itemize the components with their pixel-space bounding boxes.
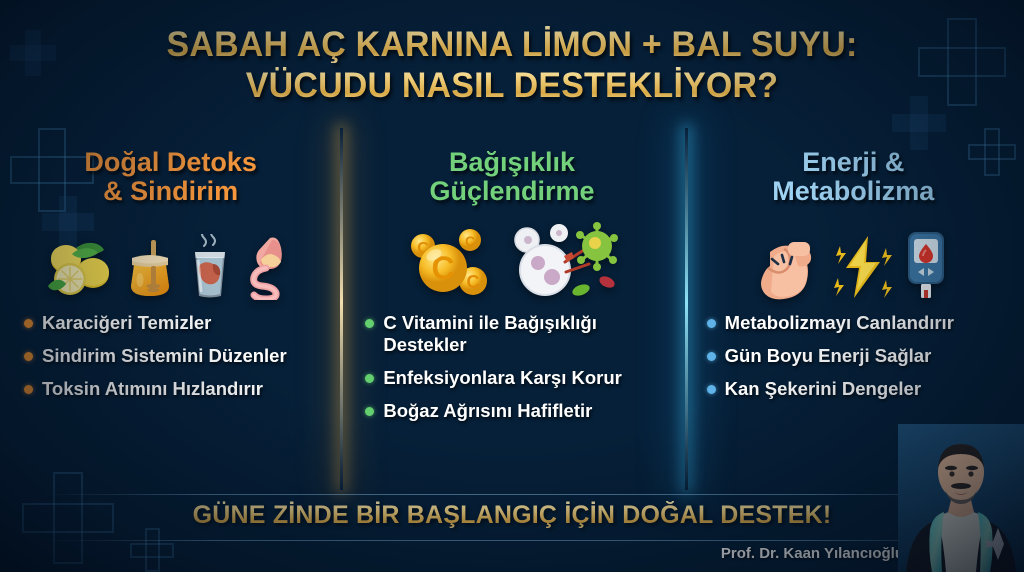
bullet-text: Sindirim Sistemini Düzenler [42,345,287,367]
bullet-dot [24,352,33,361]
footer-rule-bottom [40,540,984,541]
list-item: Sindirim Sistemini Düzenler [24,345,327,367]
bullet-list: C Vitamini ile Bağışıklığı Destekler Enf… [355,312,668,421]
footer-rule-top [40,494,984,495]
poster-title: SABAH AÇ KARNINA LİMON + BAL SUYU: VÜCUD… [0,26,1024,104]
lightning-bolt-icon [832,234,894,300]
infographic-poster: SABAH AÇ KARNINA LİMON + BAL SUYU: VÜCUD… [0,0,1024,572]
list-item: Gün Boyu Enerji Sağlar [707,345,1010,367]
column-heading-line-2: Güçlendirme [355,177,668,206]
bullet-dot [365,407,374,416]
water-glass-liver-icon [186,234,234,300]
column-immunity: Bağışıklık Güçlendirme C C C [341,148,682,478]
medical-cross-icon [130,528,174,572]
column-heading: Bağışıklık Güçlendirme [355,148,668,206]
list-item: Toksin Atımını Hızlandırır [24,378,327,400]
column-detox: Doğal Detoks & Sindirim [0,148,341,478]
column-heading: Enerji & Metabolizma [697,148,1010,206]
white-blood-cell-virus-icon [509,220,621,300]
vitamin-c-icon: C C C C [403,224,499,300]
bullet-list: Metabolizmayı Canlandırır Gün Boyu Enerj… [697,312,1010,399]
bullet-text: Toksin Atımını Hızlandırır [42,378,263,400]
bullet-text: Enfeksiyonlara Karşı Korur [383,367,622,389]
bullet-dot [24,385,33,394]
bullet-text: Kan Şekerini Dengeler [725,378,921,400]
bullet-dot [707,385,716,394]
benefit-columns: Doğal Detoks & Sindirim [0,148,1024,478]
lemon-icon [46,238,114,300]
title-line-2: VÜCUDU NASIL DESTEKLİYOR? [15,67,1008,104]
column-heading-line-1: Doğal Detoks [14,148,327,177]
column-heading-line-2: Metabolizma [697,177,1010,206]
bullet-text: Gün Boyu Enerji Sağlar [725,345,932,367]
svg-text:C: C [465,233,475,249]
column-icons [14,214,327,300]
column-heading-line-1: Bağışıklık [355,148,668,177]
glucose-meter-icon [904,230,948,300]
flexed-bicep-icon [758,238,822,300]
column-heading-line-1: Enerji & [697,148,1010,177]
bullet-text: C Vitamini ile Bağışıklığı Destekler [383,312,668,356]
column-heading-line-2: & Sindirim [14,177,327,206]
svg-text:C: C [466,272,479,292]
bullet-list: Karaciğeri Temizler Sindirim Sistemini D… [14,312,327,399]
author-credit: Prof. Dr. Kaan Yılancıoğlu [721,545,904,562]
bullet-dot [24,319,33,328]
list-item: C Vitamini ile Bağışıklığı Destekler [365,312,668,356]
list-item: Enfeksiyonlara Karşı Korur [365,367,668,389]
title-line-1: SABAH AÇ KARNINA LİMON + BAL SUYU: [15,26,1008,63]
honey-jar-icon [124,238,176,300]
bullet-text: Metabolizmayı Canlandırır [725,312,954,334]
bullet-dot [707,352,716,361]
list-item: Kan Şekerini Dengeler [707,378,1010,400]
column-heading: Doğal Detoks & Sindirim [14,148,327,206]
list-item: Karaciğeri Temizler [24,312,327,334]
doctor-photo [898,424,1024,572]
bullet-dot [365,374,374,383]
list-item: Boğaz Ağrısını Hafifletir [365,400,668,422]
bullet-dot [365,319,374,328]
bullet-text: Boğaz Ağrısını Hafifletir [383,400,592,422]
stomach-intestine-icon [244,234,296,300]
column-icons: C C C C [355,214,668,300]
footer-tagline: GÜNE ZİNDE BİR BAŞLANGIÇ İÇİN DOĞAL DEST… [0,501,1024,530]
bullet-text: Karaciğeri Temizler [42,312,211,334]
bullet-dot [707,319,716,328]
list-item: Metabolizmayı Canlandırır [707,312,1010,334]
column-icons [697,214,1010,300]
